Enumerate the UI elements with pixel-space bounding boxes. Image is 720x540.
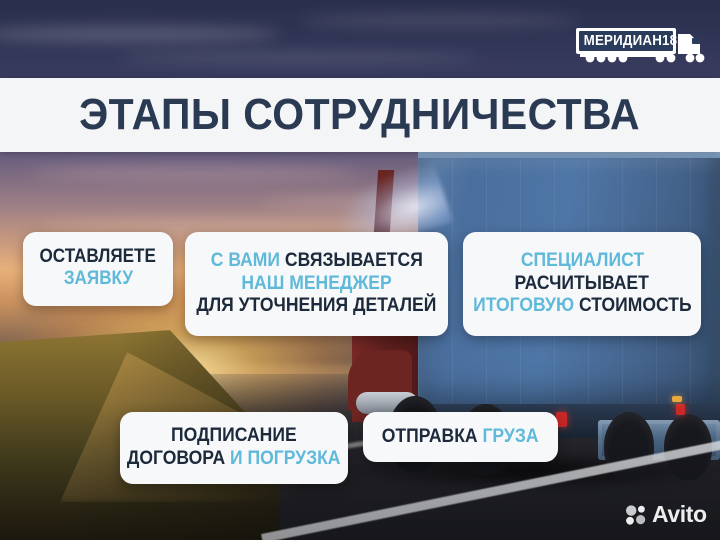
brand-logo: МЕРИДИАН18: [570, 22, 708, 66]
cloud-streak: [30, 166, 360, 180]
step-card-1: 1. ОСТАВЛЯЕТЕ ЗАЯВКУ: [23, 232, 173, 306]
cloud-streak: [300, 14, 580, 27]
step-line: РАСЧИТЫВАЕТ: [515, 272, 649, 295]
infographic-poster: МЕРИДИАН18 ЭТАПЫ СОТРУДНИЧЕСТВА 1. ОСТАВ…: [0, 0, 720, 540]
step-text: ОСТАВЛЯЕТЕ: [40, 246, 156, 267]
cloud-streak: [120, 52, 480, 63]
step-line: ДОГОВОРА И ПОГРУЗКА: [127, 447, 341, 470]
step-text: ГРУЗА: [478, 425, 539, 447]
step-text: ПОДПИСАНИЕ: [171, 424, 297, 446]
step-text: ДОГОВОРА: [127, 447, 225, 469]
step-text: И ПОГРУЗКА: [225, 447, 340, 469]
step-card-5: 5. ОТПРАВКА ГРУЗА: [363, 412, 558, 462]
step-text: СТОИМОСТЬ: [574, 294, 692, 316]
step-line: ИТОГОВУЮ СТОИМОСТЬ: [473, 294, 691, 317]
avito-label: Avito: [652, 503, 707, 526]
step-text: ИТОГОВУЮ: [473, 294, 574, 316]
step-text: НАШ МЕНЕДЖЕР: [241, 272, 391, 294]
brand-logo-text: МЕРИДИАН18: [584, 33, 669, 49]
step-text: СВЯЗЫВАЕТСЯ: [280, 249, 423, 271]
page-title: ЭТАПЫ СОТРУДНИЧЕСТВА: [80, 93, 641, 137]
cloud-streak: [0, 26, 280, 42]
step-text: ОТПРАВКА: [382, 425, 478, 447]
step-line: ДЛЯ УТОЧНЕНИЯ ДЕТАЛЕЙ: [197, 294, 437, 317]
step-text: РАСЧИТЫВАЕТ: [515, 272, 649, 294]
truck-marker-light: [672, 396, 682, 402]
step-card-3: 3. СПЕЦИАЛИСТ РАСЧИТЫВАЕТ ИТОГОВУЮ СТОИМ…: [463, 232, 701, 336]
step-text: ДЛЯ УТОЧНЕНИЯ ДЕТАЛЕЙ: [197, 294, 437, 316]
title-band: ЭТАПЫ СОТРУДНИЧЕСТВА: [0, 78, 720, 152]
step-line: ПОДПИСАНИЕ: [171, 424, 297, 447]
step-line: СПЕЦИАЛИСТ: [520, 249, 643, 272]
truck-tail-light: [676, 404, 685, 415]
step-line: С ВАМИ СВЯЗЫВАЕТСЯ: [210, 249, 422, 272]
step-line: ЗАЯВКУ: [63, 268, 132, 290]
step-card-2: 2. С ВАМИ СВЯЗЫВАЕТСЯ НАШ МЕНЕДЖЕР ДЛЯ У…: [185, 232, 448, 336]
step-text: СПЕЦИАЛИСТ: [520, 249, 643, 271]
step-line: ОСТАВЛЯЕТЕ: [40, 246, 156, 268]
avito-dots-icon: [625, 504, 647, 526]
step-text: С ВАМИ: [210, 249, 279, 271]
step-line: НАШ МЕНЕДЖЕР: [241, 272, 391, 295]
avito-watermark: Avito: [625, 503, 707, 526]
step-text: ЗАЯВКУ: [63, 268, 132, 289]
step-line: ОТПРАВКА ГРУЗА: [382, 425, 539, 448]
step-card-4: 4. ПОДПИСАНИЕ ДОГОВОРА И ПОГРУЗКА: [120, 412, 348, 484]
